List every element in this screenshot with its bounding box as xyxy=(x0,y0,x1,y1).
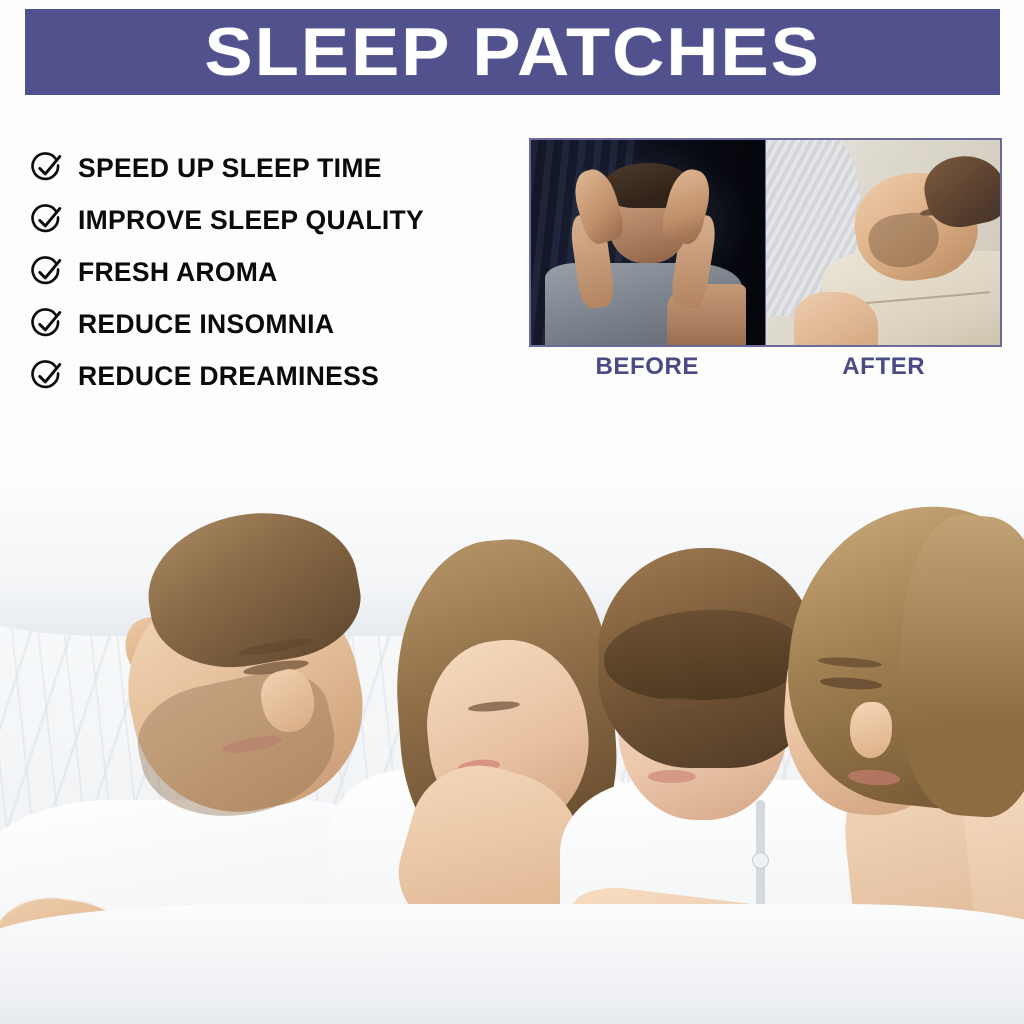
check-circle-icon xyxy=(30,203,64,237)
check-circle-icon xyxy=(30,255,64,289)
son-shirt-button xyxy=(752,852,769,869)
page-title: SLEEP PATCHES xyxy=(204,18,820,86)
before-photo xyxy=(531,140,766,345)
before-after-image-block xyxy=(529,138,1002,347)
before-caption: BEFORE xyxy=(529,355,766,379)
check-circle-icon xyxy=(30,307,64,341)
benefit-label: IMPROVE SLEEP QUALITY xyxy=(78,207,424,234)
list-item: FRESH AROMA xyxy=(30,246,500,298)
list-item: REDUCE INSOMNIA xyxy=(30,298,500,350)
son-lips xyxy=(648,770,696,783)
product-infographic: SLEEP PATCHES SPEED UP SLEEP TIME IMPROV… xyxy=(0,0,1024,1024)
benefit-label: REDUCE INSOMNIA xyxy=(78,311,334,338)
list-item: SPEED UP SLEEP TIME xyxy=(30,142,500,194)
mother-nose xyxy=(850,702,892,758)
list-item: IMPROVE SLEEP QUALITY xyxy=(30,194,500,246)
header-banner: SLEEP PATCHES xyxy=(25,9,1000,95)
benefit-label: SPEED UP SLEEP TIME xyxy=(78,155,382,182)
blanket xyxy=(0,904,1024,1024)
benefit-label: FRESH AROMA xyxy=(78,259,278,286)
list-item: REDUCE DREAMINESS xyxy=(30,350,500,402)
benefit-list: SPEED UP SLEEP TIME IMPROVE SLEEP QUALIT… xyxy=(30,142,500,402)
after-photo xyxy=(766,140,1000,345)
before-after-captions: BEFORE AFTER xyxy=(529,355,1002,379)
son-closed-eye xyxy=(648,698,704,707)
check-circle-icon xyxy=(30,359,64,393)
family-sleeping-photo xyxy=(0,470,1024,1024)
benefit-label: REDUCE DREAMINESS xyxy=(78,363,379,390)
after-caption: AFTER xyxy=(766,355,1003,379)
check-circle-icon xyxy=(30,151,64,185)
